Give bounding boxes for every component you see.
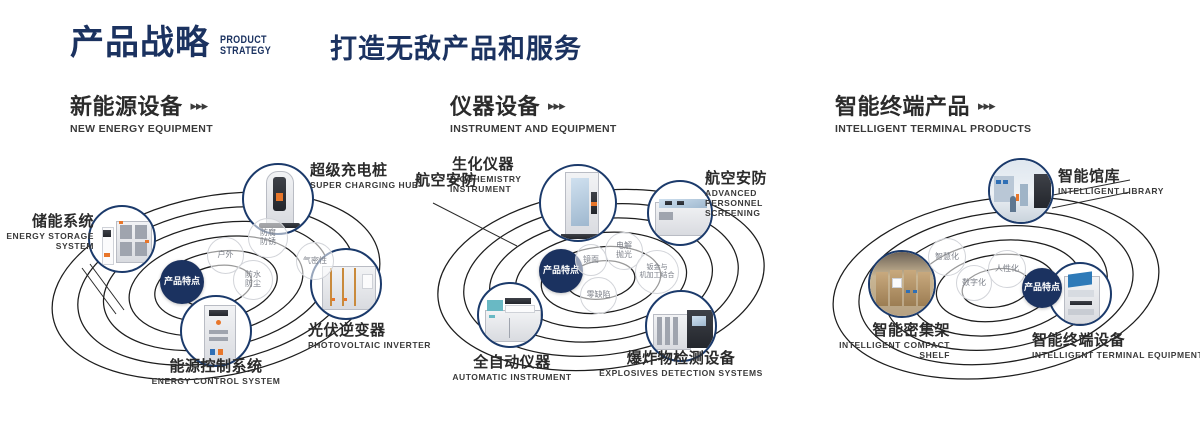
bubble-label: 户外 <box>218 251 234 260</box>
label-energy-storage: 储能系统 ENERGY STORAGE SYSTEM <box>0 213 94 251</box>
bubble-label: 钣金与 机加工结合 <box>640 264 675 279</box>
node-label-en: AUTOMATIC INSTRUMENT <box>417 372 607 382</box>
node-label-cn: 智能密集架 <box>790 322 950 339</box>
bubble-label: 防水 防尘 <box>245 271 261 289</box>
bubble-label: 人性化 <box>995 265 1019 274</box>
node-label-cn: 储能系统 <box>0 213 94 230</box>
bubble-label: 电解 抛光 <box>616 242 632 260</box>
section-title-new-energy: 新能源设备▸▸▸ NEW ENERGY EQUIPMENT <box>70 95 213 135</box>
bubble-label: 产品特点 <box>164 277 200 287</box>
page-title-en: PRODUCT STRATEGY <box>220 35 271 58</box>
bubble-label: 气密性 <box>303 257 327 266</box>
node-control-system[interactable] <box>180 295 252 367</box>
node-label-en: ENERGY CONTROL SYSTEM <box>116 376 316 386</box>
node-label-cn: 生化仪器 <box>452 156 521 173</box>
node-biochemistry-instrument[interactable] <box>539 164 617 242</box>
bubble-feature-2: 防腐 防锈 <box>248 218 288 258</box>
bubble-feature-2: 数字化 <box>956 265 992 301</box>
bubble-feature-3: 钣金与 机加工结合 <box>635 250 679 294</box>
bubble-feature-3: 气密性 <box>296 242 334 280</box>
node-label-en: ADVANCED PERSONNEL SCREENING <box>705 188 805 218</box>
page-title-cn: 产品战略 <box>70 26 210 60</box>
node-label-cn: 智能终端设备 <box>1032 332 1200 349</box>
page-header: 产品战略 PRODUCT STRATEGY <box>70 26 282 60</box>
label-intelligent-terminal-equipment: 智能终端设备 INTELLIGENT TERMINAL EQUIPMENT <box>1032 332 1200 360</box>
energy-storage-cabinet-icon <box>90 207 154 271</box>
bubble-feature-1: 镜面 <box>575 244 607 276</box>
bubble-feature-3: 人性化 <box>988 250 1026 288</box>
node-label-en: INTELLIGENT COMPACT SHELF <box>790 340 950 360</box>
section-title-cn: 智能终端产品 <box>835 95 970 119</box>
bubble-label: 镜面 <box>583 256 599 265</box>
bubble-label: 产品特点 <box>543 266 579 276</box>
section-title-en: INSTRUMENT AND EQUIPMENT <box>450 123 617 135</box>
node-label-cn: 爆炸物检测设备 <box>591 350 771 367</box>
label-automatic-instrument: 全自动仪器 AUTOMATIC INSTRUMENT <box>417 354 607 382</box>
chevron-triple-icon: ▸▸▸ <box>548 98 565 114</box>
cluster-intelligent-terminal: 智能馆库 INTELLIGENT LIBRARY 智能终端设备 INTELLIG… <box>800 150 1200 420</box>
bubble-label: 产品特点 <box>1024 283 1060 293</box>
node-label-cn: 智能馆库 <box>1058 168 1164 185</box>
label-personnel-screening: 航空安防 ADVANCED PERSONNEL SCREENING <box>705 170 805 218</box>
control-cabinet-icon <box>182 297 250 365</box>
label-control-system: 能源控制系统 ENERGY CONTROL SYSTEM <box>116 358 316 386</box>
compact-shelving-icon <box>870 252 934 316</box>
library-room-icon <box>990 160 1052 222</box>
bubble-feature-4: 防水 防尘 <box>233 260 273 300</box>
node-label-cn: 航空安防 <box>705 170 805 187</box>
section-title-cn: 仪器设备 <box>450 95 540 119</box>
node-intelligent-library[interactable] <box>988 158 1054 224</box>
bubble-label: 零缺陷 <box>587 291 611 300</box>
bubble-label: 防腐 防锈 <box>260 229 276 247</box>
automatic-analyzer-icon <box>479 284 541 346</box>
label-intelligent-library: 智能馆库 INTELLIGENT LIBRARY <box>1058 168 1164 196</box>
page-slogan: 打造无敌产品和服务 <box>330 36 582 63</box>
node-label-cn: 全自动仪器 <box>417 354 607 371</box>
label-intelligent-compact-shelf: 智能密集架 INTELLIGENT COMPACT SHELF <box>790 322 950 360</box>
bubble-product-features[interactable]: 产品特点 <box>1022 268 1062 308</box>
bubble-feature-4: 零缺陷 <box>580 277 617 314</box>
section-title-en: NEW ENERGY EQUIPMENT <box>70 123 213 135</box>
label-aviation-security-left: 航空安防 <box>415 172 477 189</box>
cluster-new-energy: 储能系统 ENERGY STORAGE SYSTEM 超级充电桩 SUPER C… <box>20 150 420 420</box>
node-intelligent-compact-shelf[interactable] <box>868 250 936 318</box>
node-label-en: ENERGY STORAGE SYSTEM <box>0 231 94 251</box>
section-title-cn: 新能源设备 <box>70 95 183 119</box>
node-energy-storage[interactable] <box>88 205 156 273</box>
section-title-intelligent-terminal: 智能终端产品▸▸▸ INTELLIGENT TERMINAL PRODUCTS <box>835 95 1031 135</box>
section-title-instrument: 仪器设备▸▸▸ INSTRUMENT AND EQUIPMENT <box>450 95 617 135</box>
biochemistry-scanner-icon <box>541 166 615 240</box>
node-label-cn: 能源控制系统 <box>116 358 316 375</box>
node-label-en: INTELLIGENT LIBRARY <box>1058 186 1164 196</box>
node-automatic-instrument[interactable] <box>477 282 543 348</box>
section-title-en: INTELLIGENT TERMINAL PRODUCTS <box>835 123 1031 135</box>
screening-machine-icon <box>649 182 711 244</box>
label-explosives-detection: 爆炸物检测设备 EXPLOSIVES DETECTION SYSTEMS <box>591 350 771 378</box>
bubble-label: 数字化 <box>962 279 986 288</box>
product-strategy-infographic: 产品战略 PRODUCT STRATEGY 打造无敌产品和服务 新能源设备▸▸▸… <box>0 0 1200 422</box>
cluster-instrument: 生化仪器 BIOCHEMISTRY INSTRUMENT 航空安防 航空安防 A… <box>405 150 805 420</box>
node-label-en: INTELLIGENT TERMINAL EQUIPMENT <box>1032 350 1200 360</box>
bubble-product-features[interactable]: 产品特点 <box>160 260 204 304</box>
chevron-triple-icon: ▸▸▸ <box>191 98 208 114</box>
chevron-triple-icon: ▸▸▸ <box>978 98 995 114</box>
node-label-cn: 航空安防 <box>415 172 477 189</box>
bubble-label: 智慧化 <box>935 253 959 262</box>
node-label-en: EXPLOSIVES DETECTION SYSTEMS <box>591 368 771 378</box>
node-personnel-screening[interactable] <box>647 180 713 246</box>
